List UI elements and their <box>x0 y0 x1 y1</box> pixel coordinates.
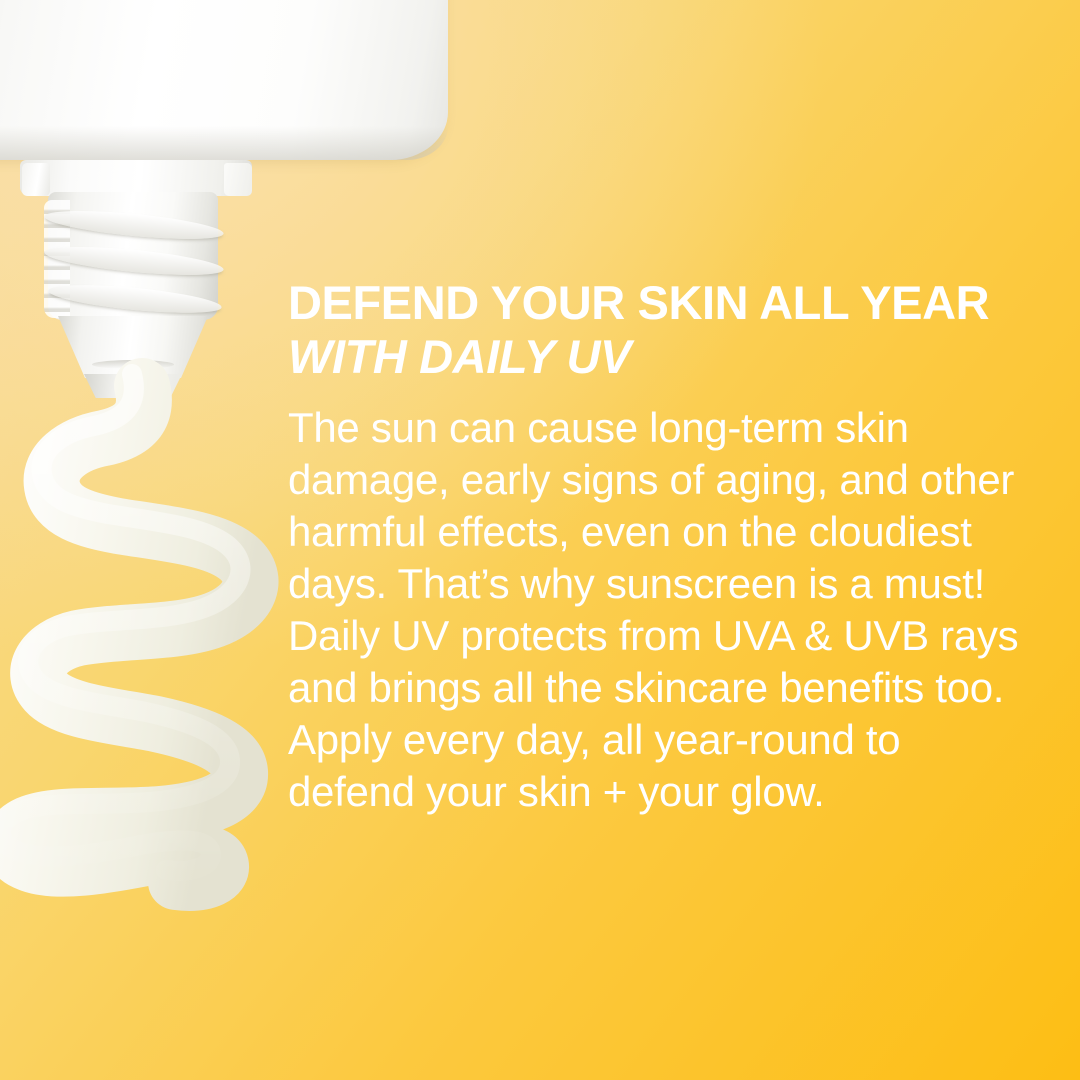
body-line-1: The sun can cause long-term skin <box>288 402 1048 454</box>
shoulder-tab-right <box>224 163 252 196</box>
body-line-3: harmful effects, even on the cloudiest <box>288 506 1048 558</box>
body-line-8: defend your skin + your glow. <box>288 766 1048 818</box>
copy-block: DEFEND YOUR SKIN ALL YEAR WITH DAILY UV … <box>288 276 1048 818</box>
body-line-6: and brings all the skincare benefits too… <box>288 662 1048 714</box>
page-title: DEFEND YOUR SKIN ALL YEAR WITH DAILY UV <box>288 276 1048 384</box>
body-line-4: days. That’s why sunscreen is a must! <box>288 558 1048 610</box>
promo-canvas: DEFEND YOUR SKIN ALL YEAR WITH DAILY UV … <box>0 0 1080 1080</box>
headline-line-1: DEFEND YOUR SKIN ALL YEAR <box>288 276 989 329</box>
body-copy: The sun can cause long-term skin damage,… <box>288 402 1048 818</box>
body-line-5: Daily UV protects from UVA & UVB rays <box>288 610 1048 662</box>
body-line-7: Apply every day, all year-round to <box>288 714 1048 766</box>
tube-shoulder <box>20 160 252 196</box>
headline-line-2: WITH DAILY UV <box>288 330 1048 384</box>
body-line-2: damage, early signs of aging, and other <box>288 454 1048 506</box>
shoulder-tab-left <box>22 163 50 196</box>
tube-body <box>0 0 448 160</box>
